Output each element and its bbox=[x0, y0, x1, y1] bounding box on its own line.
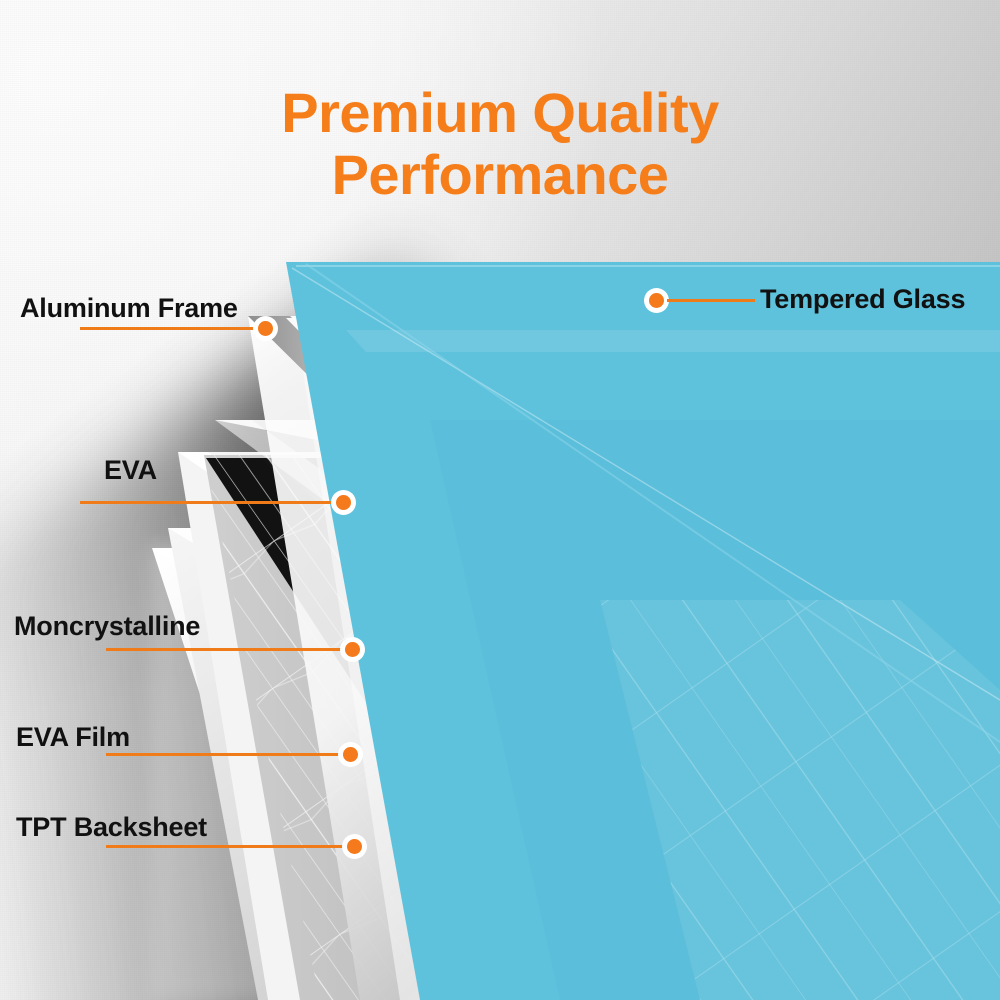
product-infographic: Premium Quality Performance Tempered Gla… bbox=[0, 0, 1000, 1000]
callout-label-tpt-backsheet: TPT Backsheet bbox=[16, 812, 207, 843]
callout-dot-tpt-backsheet[interactable] bbox=[342, 834, 367, 859]
callout-tpt-backsheet[interactable]: TPT Backsheet bbox=[0, 0, 1000, 1000]
callout-leader-tpt-backsheet bbox=[106, 845, 354, 848]
